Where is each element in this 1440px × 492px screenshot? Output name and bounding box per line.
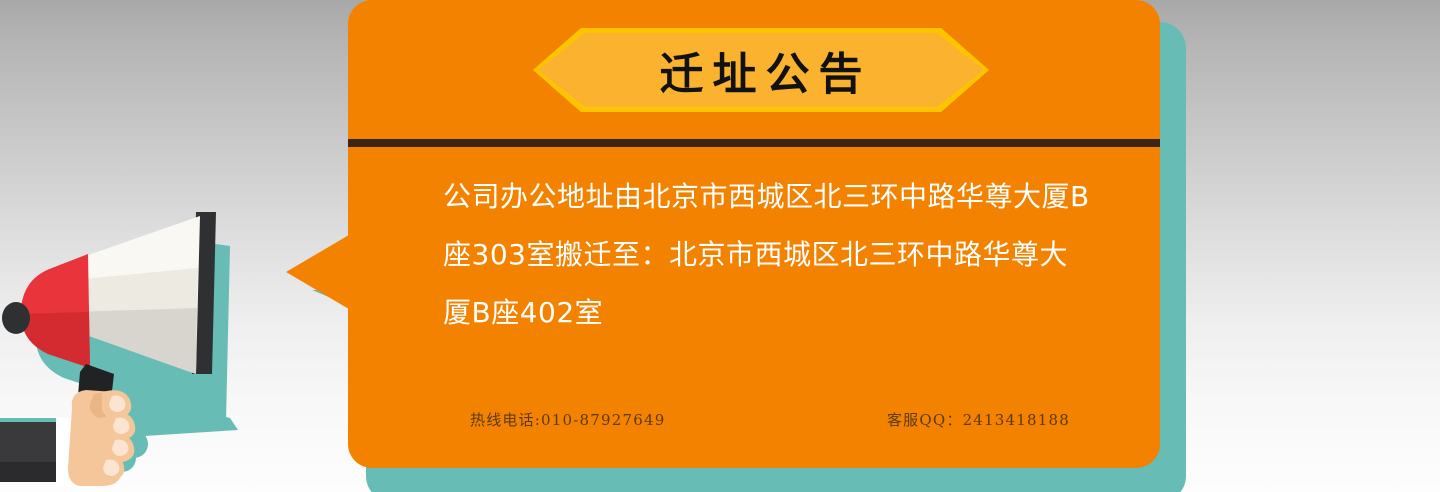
page-title: 迁址公告 [533, 28, 989, 112]
hotline-text: 热线电话:010-87927649 [470, 409, 666, 430]
notice-body-text: 公司办公地址由北京市西城区北三环中路华尊大厦B座303室搬迁至：北京市西城区北三… [443, 168, 1091, 342]
speech-bubble-tail [286, 232, 354, 312]
footer-contacts: 热线电话:010-87927649 客服QQ：2413418188 [470, 409, 1070, 430]
megaphone-back-nub [2, 302, 30, 334]
title-banner: 迁址公告 [533, 28, 989, 112]
header-divider [348, 139, 1160, 147]
qq-text: 客服QQ：2413418188 [887, 409, 1070, 430]
announcement-banner-image: 迁址公告 公司办公地址由北京市西城区北三环中路华尊大厦B座303室搬迁至：北京市… [0, 0, 1440, 492]
megaphone-illustration [0, 186, 294, 492]
